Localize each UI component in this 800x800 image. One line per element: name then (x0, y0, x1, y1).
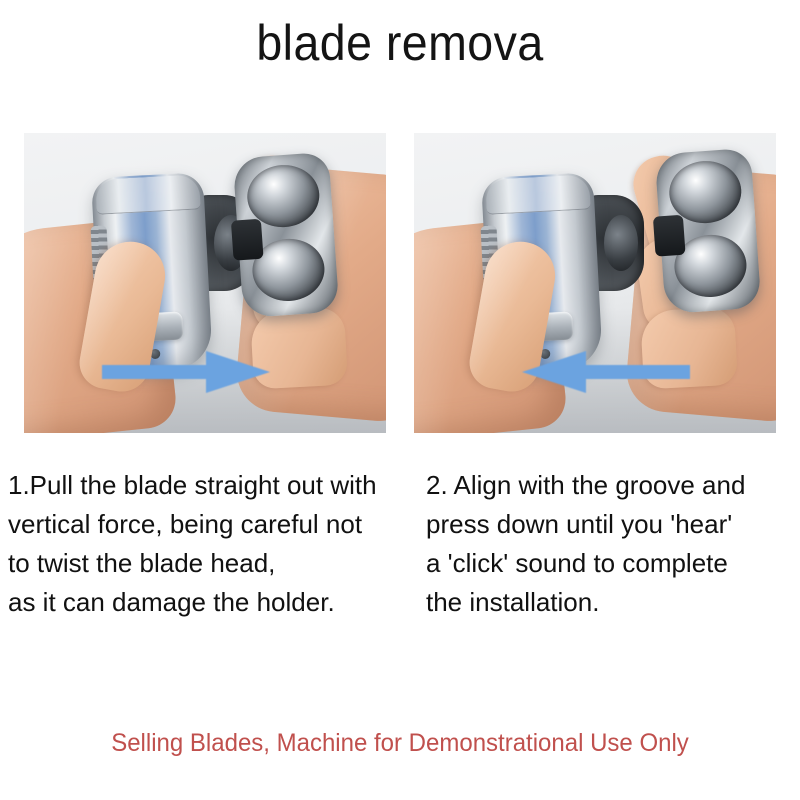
step-1-photo (24, 133, 386, 433)
detached-blade-head (655, 148, 762, 314)
blade-head-latch (231, 219, 264, 261)
step-2-photo (414, 133, 776, 433)
shaver-top-cap (95, 174, 201, 214)
arrow-left-icon (522, 349, 690, 395)
page-title: blade remova (28, 14, 772, 72)
instruction-photo-row (24, 133, 776, 433)
detached-blade-head (233, 152, 340, 318)
step-2-caption: 2. Align with the groove and press down … (409, 466, 800, 622)
blade-head-latch (653, 215, 686, 257)
holder-cavity (604, 215, 638, 271)
disclaimer-note: Selling Blades, Machine for Demonstratio… (16, 727, 784, 759)
arrow-right-icon (102, 349, 270, 395)
instruction-captions: 1.Pull the blade straight out with verti… (0, 466, 800, 622)
step-1-caption: 1.Pull the blade straight out with verti… (0, 466, 409, 622)
shaver-top-cap (485, 174, 591, 214)
